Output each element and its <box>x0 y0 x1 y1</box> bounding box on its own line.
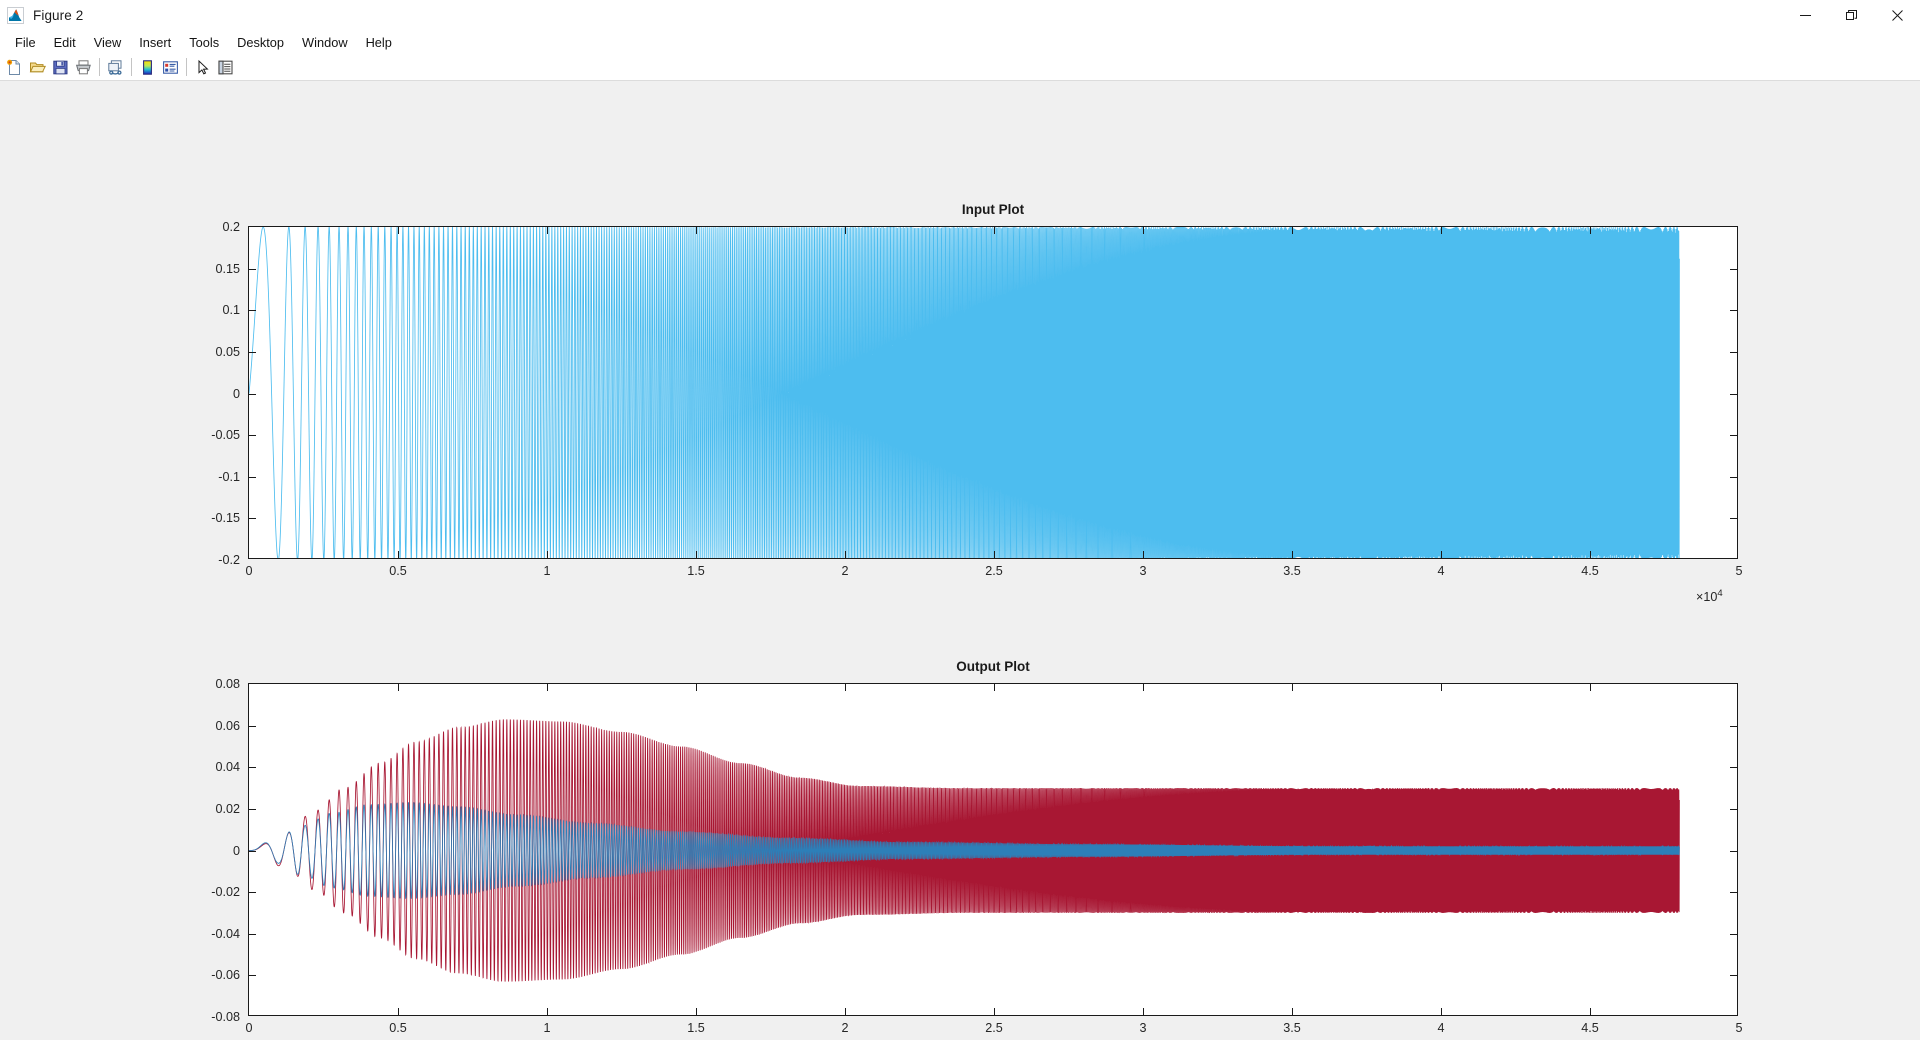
x-tick-top <box>1441 227 1442 234</box>
x-tick-top <box>1590 684 1591 691</box>
new-document-icon[interactable] <box>3 56 26 79</box>
y-tick <box>249 269 256 270</box>
y-tick-right <box>1730 435 1737 436</box>
x-tick-top <box>1590 227 1591 234</box>
toolbar-separator <box>131 58 132 76</box>
window-titlebar: Figure 2 <box>0 0 1920 30</box>
y-tick <box>249 435 256 436</box>
x-tick <box>398 1008 399 1015</box>
y-tick-right <box>1730 726 1737 727</box>
y-tick <box>249 352 256 353</box>
x-tick <box>1143 1008 1144 1015</box>
menubar: File Edit View Insert Tools Desktop Wind… <box>0 30 1920 54</box>
x-tick-label: 0.5 <box>389 1021 407 1035</box>
x-tick <box>845 551 846 558</box>
y-tick-label: 0.02 <box>215 802 240 816</box>
x-tick-label: 4.5 <box>1581 564 1599 578</box>
y-tick <box>249 518 256 519</box>
maximize-button[interactable] <box>1828 0 1874 30</box>
y-tick-right <box>1730 352 1737 353</box>
x-tick-top <box>696 684 697 691</box>
x-tick <box>1441 1008 1442 1015</box>
y-tick <box>249 851 256 852</box>
x-tick <box>1590 551 1591 558</box>
y-tick-right <box>1730 767 1737 768</box>
menu-item-edit[interactable]: Edit <box>45 32 85 53</box>
x-tick-label: 1.5 <box>687 1021 705 1035</box>
figure-toolbar <box>0 54 1920 81</box>
matlab-figure-icon <box>7 7 24 24</box>
y-tick-label: -0.08 <box>211 1010 240 1024</box>
y-tick <box>249 892 256 893</box>
y-tick-right <box>1730 892 1737 893</box>
y-tick-label: 0 <box>233 387 240 401</box>
y-tick-label: 0.08 <box>215 677 240 691</box>
y-tick <box>249 809 256 810</box>
y-tick-label: -0.15 <box>211 511 240 525</box>
axes-output-plot[interactable]: Output Plot -0.08-0.06-0.04-0.0200.020.0… <box>248 683 1738 1016</box>
output-plot-traces <box>249 684 1737 1015</box>
x-tick <box>845 1008 846 1015</box>
x-tick-label: 2 <box>841 1021 848 1035</box>
y-tick-right <box>1730 975 1737 976</box>
titlebar-left-group: Figure 2 <box>0 7 83 24</box>
x-tick <box>1441 551 1442 558</box>
y-tick-label: -0.2 <box>218 553 240 567</box>
link-plot-icon[interactable] <box>104 56 127 79</box>
x-tick-top <box>1292 684 1293 691</box>
x-tick-label: 4.5 <box>1581 1021 1599 1035</box>
x-tick <box>398 551 399 558</box>
y-tick <box>249 934 256 935</box>
figure-canvas: Input Plot -0.2-0.15-0.1-0.0500.050.10.1… <box>0 81 1920 1040</box>
x-tick-top <box>398 227 399 234</box>
input-plot-title: Input Plot <box>249 202 1737 217</box>
y-tick <box>249 310 256 311</box>
y-tick-right <box>1730 394 1737 395</box>
x-tick-label: 0 <box>245 1021 252 1035</box>
x-tick-top <box>547 684 548 691</box>
x-tick <box>547 551 548 558</box>
x-tick-top <box>398 684 399 691</box>
x-tick-top <box>696 227 697 234</box>
x-tick-label: 0 <box>245 564 252 578</box>
colorbar-icon[interactable] <box>136 56 159 79</box>
y-tick-label: 0.05 <box>215 345 240 359</box>
x-tick <box>1143 551 1144 558</box>
x-tick-top <box>1143 227 1144 234</box>
x-tick-label: 1.5 <box>687 564 705 578</box>
y-tick-label: -0.04 <box>211 927 240 941</box>
x-tick-label: 1 <box>543 564 550 578</box>
y-tick-label: -0.02 <box>211 885 240 899</box>
x-tick-label: 5 <box>1735 564 1742 578</box>
window-controls <box>1782 0 1920 30</box>
y-tick-right <box>1730 477 1737 478</box>
y-tick-right <box>1730 518 1737 519</box>
y-tick-label: 0.04 <box>215 760 240 774</box>
close-button[interactable] <box>1874 0 1920 30</box>
y-tick-right <box>1730 851 1737 852</box>
menu-item-file[interactable]: File <box>6 32 45 53</box>
printer-icon[interactable] <box>72 56 95 79</box>
property-inspector-icon[interactable] <box>214 56 237 79</box>
trace-input-chirp <box>249 227 1679 558</box>
arrow-pointer-icon[interactable] <box>191 56 214 79</box>
x-tick <box>696 1008 697 1015</box>
toolbar-separator <box>186 58 187 76</box>
y-tick-right <box>1730 934 1737 935</box>
x-tick-label: 3.5 <box>1283 1021 1301 1035</box>
menu-item-tools[interactable]: Tools <box>180 32 228 53</box>
x-tick-label: 5 <box>1735 1021 1742 1035</box>
x-tick <box>1292 551 1293 558</box>
x-tick <box>547 1008 548 1015</box>
x-tick-top <box>994 227 995 234</box>
menu-item-window[interactable]: Window <box>293 32 357 53</box>
x-tick <box>994 551 995 558</box>
y-tick-right <box>1730 269 1737 270</box>
y-tick-label: -0.06 <box>211 968 240 982</box>
x-tick <box>1590 1008 1591 1015</box>
x-tick-label: 4 <box>1437 1021 1444 1035</box>
x-tick-label: 1 <box>543 1021 550 1035</box>
x-tick-top <box>994 684 995 691</box>
x-tick-label: 0.5 <box>389 564 407 578</box>
y-tick-label: 0.2 <box>222 220 240 234</box>
x-tick-label: 2.5 <box>985 1021 1003 1035</box>
x-tick-label: 3.5 <box>1283 564 1301 578</box>
y-tick <box>249 726 256 727</box>
floppy-disk-save-icon[interactable] <box>49 56 72 79</box>
x-tick <box>1292 1008 1293 1015</box>
menu-item-help[interactable]: Help <box>357 32 401 53</box>
menu-item-insert[interactable]: Insert <box>130 32 180 53</box>
x-tick <box>994 1008 995 1015</box>
y-tick-right <box>1730 310 1737 311</box>
y-tick-label: -0.05 <box>211 428 240 442</box>
legend-icon[interactable] <box>159 56 182 79</box>
x-tick-label: 4 <box>1437 564 1444 578</box>
x-tick-label: 3 <box>1139 564 1146 578</box>
y-tick <box>249 975 256 976</box>
x-tick-label: 2 <box>841 564 848 578</box>
y-tick <box>249 394 256 395</box>
x-tick-top <box>845 684 846 691</box>
y-tick-label: 0.15 <box>215 262 240 276</box>
input-plot-traces <box>249 227 1737 558</box>
x-axis-exponent-label: ×104 <box>1696 588 1723 604</box>
output-plot-title: Output Plot <box>249 659 1737 674</box>
x-tick-label: 2.5 <box>985 564 1003 578</box>
y-tick-right <box>1730 809 1737 810</box>
menu-item-desktop[interactable]: Desktop <box>228 32 293 53</box>
y-tick-label: 0.06 <box>215 719 240 733</box>
toolbar-separator <box>99 58 100 76</box>
axes-input-plot[interactable]: Input Plot -0.2-0.15-0.1-0.0500.050.10.1… <box>248 226 1738 559</box>
x-tick-label: 3 <box>1139 1021 1146 1035</box>
y-tick <box>249 477 256 478</box>
x-tick-top <box>547 227 548 234</box>
menu-item-view[interactable]: View <box>85 32 131 53</box>
x-tick-top <box>845 227 846 234</box>
y-tick-label: 0.1 <box>222 303 240 317</box>
y-tick-label: -0.1 <box>218 470 240 484</box>
y-tick-label: 0 <box>233 844 240 858</box>
window-title: Figure 2 <box>33 8 83 23</box>
x-tick-top <box>1292 227 1293 234</box>
open-folder-icon[interactable] <box>26 56 49 79</box>
minimize-button[interactable] <box>1782 0 1828 30</box>
x-tick <box>696 551 697 558</box>
y-tick <box>249 767 256 768</box>
x-tick-top <box>1441 684 1442 691</box>
x-tick-top <box>1143 684 1144 691</box>
